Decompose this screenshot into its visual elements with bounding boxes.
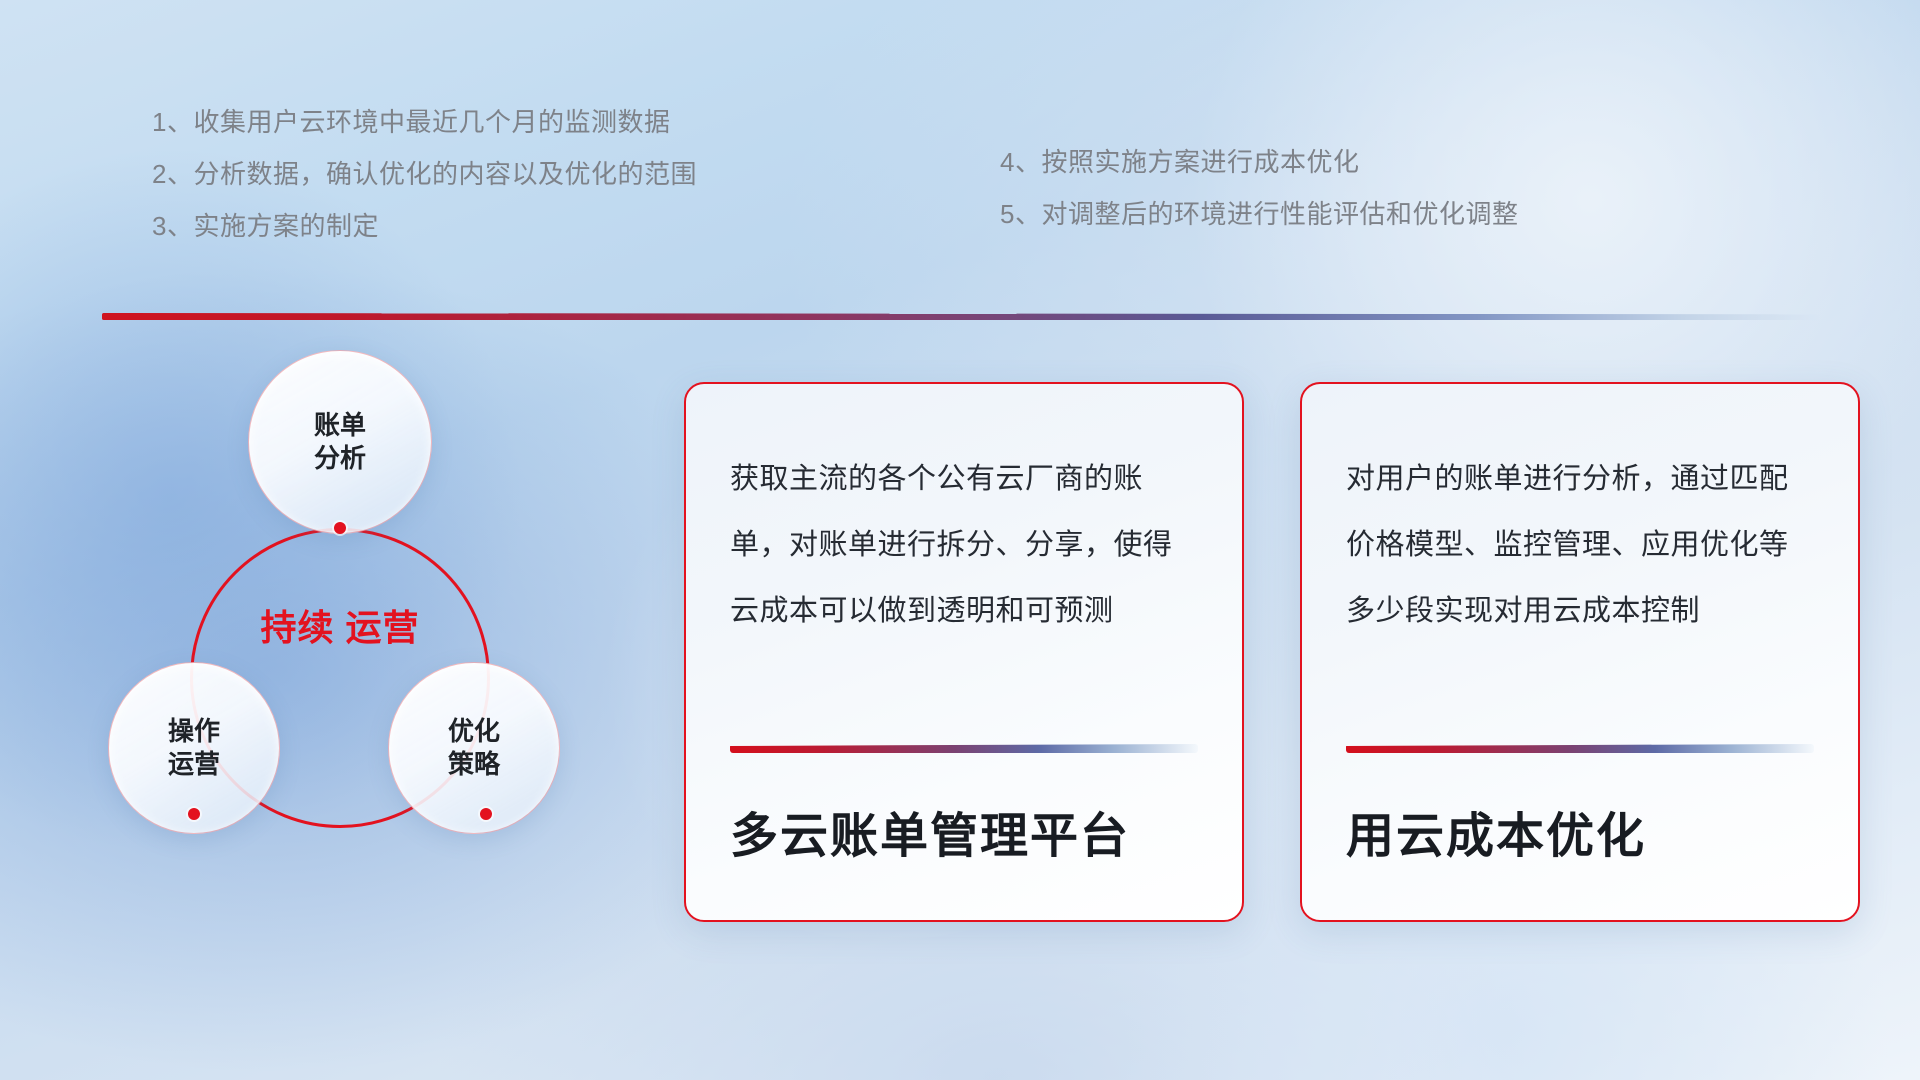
card-1-rule [730,744,1198,753]
diagram-node-dot-top [334,522,346,534]
diagram-node-dot-left [188,808,200,820]
steps-column-right: 4、按照实施方案进行成本优化 5、对调整后的环境进行性能评估和优化调整 [1000,136,1518,240]
step-item-5: 5、对调整后的环境进行性能评估和优化调整 [1000,188,1518,240]
steps-section: 1、收集用户云环境中最近几个月的监测数据 2、分析数据，确认优化的内容以及优化的… [0,96,1920,256]
card-multi-cloud-billing-platform[interactable]: 获取主流的各个公有云厂商的账单，对账单进行拆分、分享，使得云成本可以做到透明和可… [684,382,1244,922]
diagram-center-label: 持续 运营 [190,605,490,650]
step-item-2: 2、分析数据，确认优化的内容以及优化的范围 [152,148,697,200]
step-item-4: 4、按照实施方案进行成本优化 [1000,136,1518,188]
bubble-top-line-2: 分析 [314,442,366,475]
bubble-top-line-1: 账单 [314,409,366,442]
step-item-3: 3、实施方案的制定 [152,200,697,252]
center-label-line-1: 持续 [260,607,334,648]
card-2-body-text: 对用户的账单进行分析，通过匹配价格模型、监控管理、应用优化等多少段实现对用云成本… [1346,446,1814,716]
card-1-body-text: 获取主流的各个公有云厂商的账单，对账单进行拆分、分享，使得云成本可以做到透明和可… [730,446,1198,716]
diagram-bubble-bill-analysis[interactable]: 账单 分析 [248,350,432,534]
bubble-left-line-2: 运营 [168,748,220,781]
diagram-node-dot-right [480,808,492,820]
section-divider [102,313,1820,320]
card-2-title: 用云成本优化 [1346,808,1814,866]
bubble-right-line-2: 策略 [448,748,500,781]
bubble-right-line-1: 优化 [448,715,500,748]
continuous-operation-diagram: 持续 运营 账单 分析 操作 运营 优化 策略 [100,350,620,950]
center-label-line-2: 运营 [346,607,420,648]
steps-column-left: 1、收集用户云环境中最近几个月的监测数据 2、分析数据，确认优化的内容以及优化的… [152,96,697,252]
slide-canvas: 1、收集用户云环境中最近几个月的监测数据 2、分析数据，确认优化的内容以及优化的… [0,0,1920,1080]
card-1-title: 多云账单管理平台 [730,808,1198,866]
diagram-bubble-optimization-strategy[interactable]: 优化 策略 [388,662,560,834]
bubble-left-line-1: 操作 [168,715,220,748]
step-item-1: 1、收集用户云环境中最近几个月的监测数据 [152,96,697,148]
card-cloud-cost-optimization[interactable]: 对用户的账单进行分析，通过匹配价格模型、监控管理、应用优化等多少段实现对用云成本… [1300,382,1860,922]
card-2-rule [1346,744,1814,753]
